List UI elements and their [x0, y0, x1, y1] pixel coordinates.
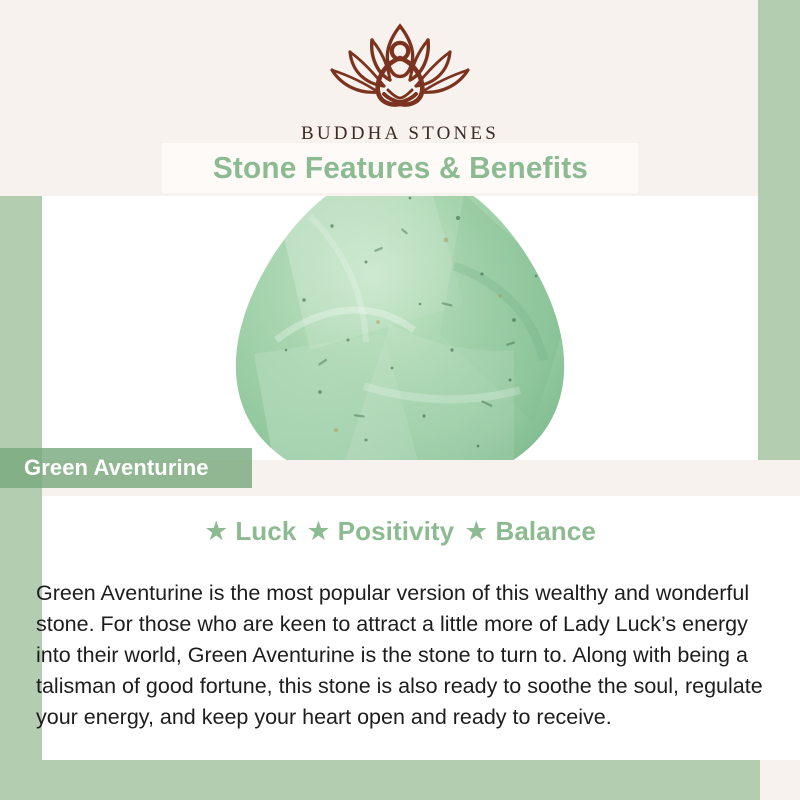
- stone-features-infographic: BUDDHA STONES Stone Features & Benefits: [0, 0, 800, 800]
- stone-description: Green Aventurine is the most popular ver…: [36, 578, 774, 733]
- keyword-positivity: ★ Positivity: [306, 516, 454, 547]
- star-icon: ★: [464, 518, 488, 545]
- keyword-label: Positivity: [338, 516, 455, 547]
- stone-photo: [42, 196, 758, 460]
- stone-name-label: Green Aventurine: [0, 448, 252, 488]
- green-aventurine-stone-image: [214, 196, 586, 460]
- star-icon: ★: [306, 518, 330, 545]
- stone-name-text: Green Aventurine: [24, 455, 209, 481]
- decorative-frame-band-bottom: [0, 760, 760, 800]
- lotus-meditation-figure-icon: [0, 18, 800, 119]
- brand-logo: BUDDHA STONES: [0, 18, 800, 145]
- page-title: Stone Features & Benefits: [212, 150, 587, 186]
- keyword-luck: ★ Luck: [204, 516, 296, 547]
- keyword-label: Balance: [495, 516, 595, 547]
- keyword-list: ★ Luck ★ Positivity ★ Balance: [42, 516, 758, 547]
- brand-wordmark: BUDDHA STONES: [0, 123, 800, 145]
- keyword-label: Luck: [235, 516, 296, 547]
- keyword-balance: ★ Balance: [464, 516, 596, 547]
- section-title-banner: Stone Features & Benefits: [162, 143, 638, 193]
- star-icon: ★: [204, 518, 228, 545]
